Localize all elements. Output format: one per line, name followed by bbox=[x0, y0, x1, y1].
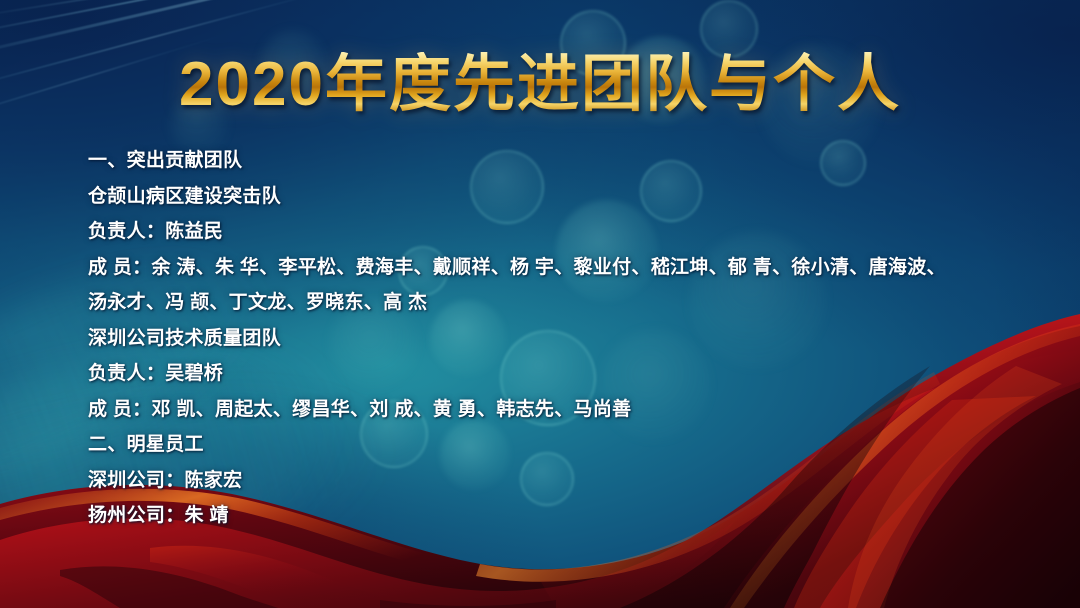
award-slide: 2020年度先进团队与个人 一、突出贡献团队 仓颉山病区建设突击队 负责人：陈益… bbox=[0, 0, 1080, 608]
team-1-leader: 负责人：陈益民 bbox=[88, 214, 1048, 250]
team-2-leader: 负责人：吴碧桥 bbox=[88, 356, 1048, 392]
team-1-members-line-2: 汤永才、冯 颉、丁文龙、罗晓东、高 杰 bbox=[88, 285, 1048, 321]
section-2-heading: 二、明星员工 bbox=[88, 427, 1048, 463]
team-1-name: 仓颉山病区建设突击队 bbox=[88, 179, 1048, 215]
section-1-heading: 一、突出贡献团队 bbox=[88, 143, 1048, 179]
team-1-members-line-1: 成 员：余 涛、朱 华、李平松、费海丰、戴顺祥、杨 宇、黎业付、嵇江坤、郁 青、… bbox=[88, 250, 1048, 286]
award-content-list: 一、突出贡献团队 仓颉山病区建设突击队 负责人：陈益民 成 员：余 涛、朱 华、… bbox=[88, 143, 1048, 534]
team-2-members: 成 员：邓 凯、周起太、缪昌华、刘 成、黄 勇、韩志先、马尚善 bbox=[88, 392, 1048, 428]
star-employee-yangzhou: 扬州公司：朱 靖 bbox=[88, 498, 1048, 534]
team-2-name: 深圳公司技术质量团队 bbox=[88, 321, 1048, 357]
star-employee-shenzhen: 深圳公司：陈家宏 bbox=[88, 463, 1048, 499]
